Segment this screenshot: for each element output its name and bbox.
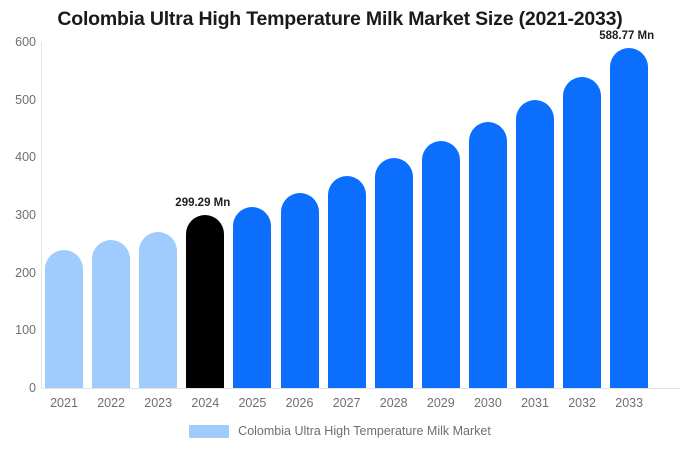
legend-swatch-colombia-uht-milk-market xyxy=(189,425,229,438)
y-axis-tick-label: 0 xyxy=(2,381,36,395)
x-axis-line xyxy=(41,388,680,389)
y-axis-tick-group: 6005004003002001000 xyxy=(0,0,36,450)
legend-label-colombia-uht-milk-market: Colombia Ultra High Temperature Milk Mar… xyxy=(238,424,491,438)
x-axis-tick-label-2033: 2033 xyxy=(600,396,658,410)
bar-value-label-2033: 588.77 Mn xyxy=(599,30,654,42)
bar-2028[interactable] xyxy=(375,158,413,388)
chart-legend[interactable]: Colombia Ultra High Temperature Milk Mar… xyxy=(0,424,680,438)
y-axis-tick-label: 300 xyxy=(2,208,36,222)
y-axis-tick-label: 400 xyxy=(2,150,36,164)
y-axis-tick-label: 500 xyxy=(2,93,36,107)
bar-value-label-2024: 299.29 Mn xyxy=(175,197,230,209)
bar-2030[interactable] xyxy=(469,122,507,388)
bar-2033[interactable] xyxy=(610,48,648,388)
chart-title: Colombia Ultra High Temperature Milk Mar… xyxy=(0,8,680,31)
bar-2031[interactable] xyxy=(516,100,554,388)
bar-2029[interactable] xyxy=(422,141,460,388)
bar-chart: Colombia Ultra High Temperature Milk Mar… xyxy=(0,0,680,450)
bar-2032[interactable] xyxy=(563,77,601,388)
bar-2024[interactable] xyxy=(186,215,224,388)
bar-2021[interactable] xyxy=(45,250,83,388)
y-axis-tick-label: 600 xyxy=(2,35,36,49)
bar-2027[interactable] xyxy=(328,176,366,388)
bar-2023[interactable] xyxy=(139,232,177,388)
bar-2026[interactable] xyxy=(281,193,319,388)
bar-2022[interactable] xyxy=(92,240,130,388)
bar-2025[interactable] xyxy=(233,207,271,388)
y-axis-tick-label: 100 xyxy=(2,323,36,337)
y-axis-tick-label: 200 xyxy=(2,266,36,280)
